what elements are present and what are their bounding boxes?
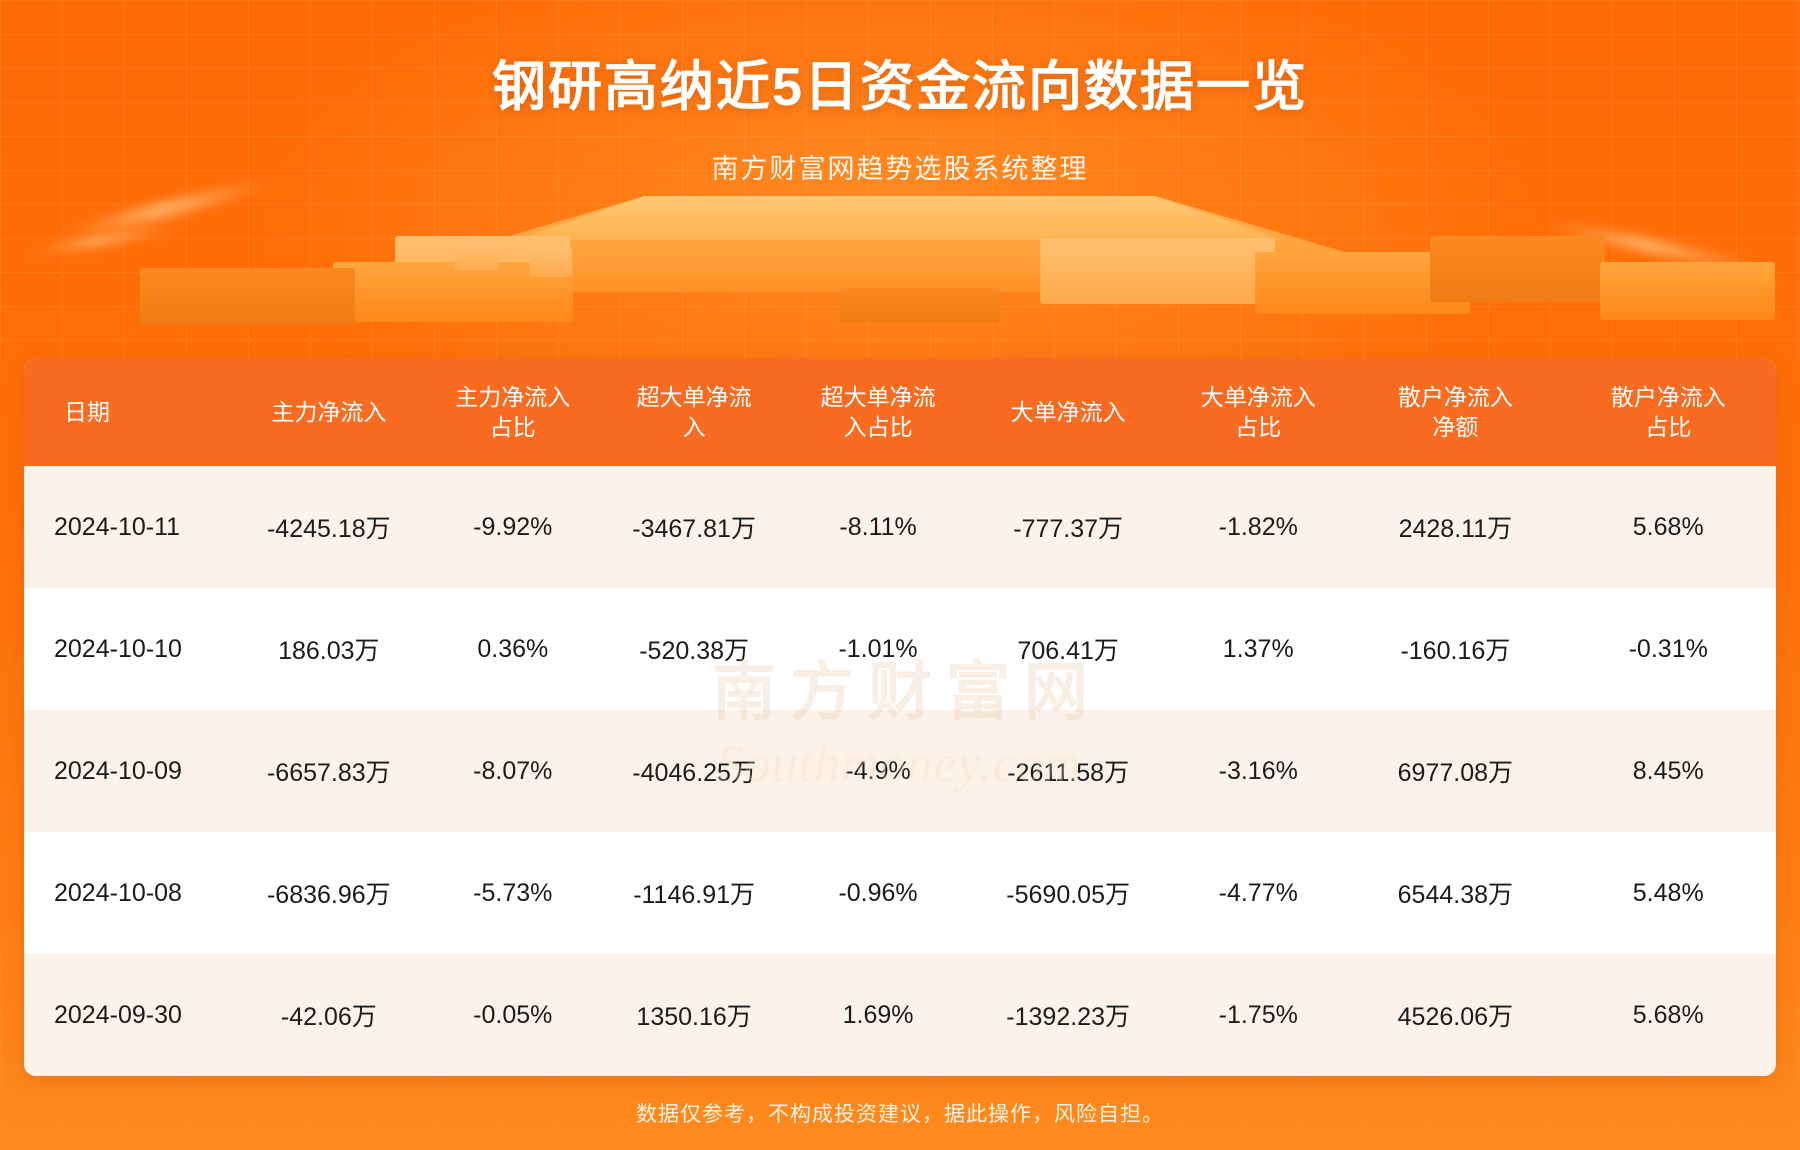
- cell-main-net: 186.03万: [234, 588, 423, 710]
- col-header-retail-net-line2: 净额: [1354, 412, 1556, 442]
- col-header-xl-net[interactable]: 超大单净流 入: [602, 358, 786, 466]
- cell-main-pct: 0.36%: [423, 588, 602, 710]
- cell-xl-net: -3467.81万: [602, 466, 786, 588]
- page-subtitle: 南方财富网趋势选股系统整理: [0, 147, 1800, 186]
- col-header-date-line1: 日期: [64, 397, 230, 427]
- podium-block-j: [840, 288, 1000, 322]
- table-row[interactable]: 2024-10-09-6657.83万-8.07%-4046.25万-4.9%-…: [24, 710, 1776, 832]
- col-header-retail-net-line1: 散户净流入: [1354, 382, 1556, 412]
- podium-block-h: [1430, 236, 1605, 302]
- col-header-retail-pct[interactable]: 散户净流入 占比: [1560, 358, 1776, 466]
- table-header-row: 日期 主力净流入 主力净流入 占比 超大单净流 入 超大单净流 入占比: [24, 358, 1776, 466]
- cell-main-net: -6657.83万: [234, 710, 423, 832]
- col-header-main-net-line1: 主力净流入: [238, 397, 419, 427]
- cell-retail-net: -160.16万: [1350, 588, 1560, 710]
- cell-main-net: -4245.18万: [234, 466, 423, 588]
- table-row[interactable]: 2024-10-11-4245.18万-9.92%-3467.81万-8.11%…: [24, 466, 1776, 588]
- col-header-xl-net-line1: 超大单净流: [606, 382, 782, 412]
- cell-retail-net: 4526.06万: [1350, 954, 1560, 1076]
- cell-main-pct: -0.05%: [423, 954, 602, 1076]
- cell-retail-pct: 5.48%: [1560, 832, 1776, 954]
- cell-xl-pct: 1.69%: [786, 954, 970, 1076]
- col-header-retail-net[interactable]: 散户净流入 净额: [1350, 358, 1560, 466]
- cell-retail-pct: 8.45%: [1560, 710, 1776, 832]
- cell-xl-net: -1146.91万: [602, 832, 786, 954]
- cell-lg-net: -777.37万: [970, 466, 1166, 588]
- podium-block-f: [1040, 238, 1275, 304]
- cell-retail-net: 6977.08万: [1350, 710, 1560, 832]
- col-header-xl-pct[interactable]: 超大单净流 入占比: [786, 358, 970, 466]
- table-row[interactable]: 2024-09-30-42.06万-0.05%1350.16万1.69%-139…: [24, 954, 1776, 1076]
- cell-date: 2024-10-11: [24, 466, 234, 588]
- data-table-card: 南方财富网 Southmoney.com 日期 主力净流入 主力净流入 占比: [24, 358, 1776, 1076]
- cell-date: 2024-10-08: [24, 832, 234, 954]
- cell-lg-pct: -1.75%: [1166, 954, 1350, 1076]
- cell-lg-net: -1392.23万: [970, 954, 1166, 1076]
- table-body: 2024-10-11-4245.18万-9.92%-3467.81万-8.11%…: [24, 466, 1776, 1076]
- page-header: 钢研高纳近5日资金流向数据一览 南方财富网趋势选股系统整理: [0, 0, 1800, 186]
- cell-xl-pct: -4.9%: [786, 710, 970, 832]
- cell-retail-pct: -0.31%: [1560, 588, 1776, 710]
- col-header-date[interactable]: 日期: [24, 358, 234, 466]
- cell-xl-net: -4046.25万: [602, 710, 786, 832]
- col-header-lg-net-line1: 大单净流入: [974, 397, 1162, 427]
- cell-xl-pct: -0.96%: [786, 832, 970, 954]
- cell-retail-pct: 5.68%: [1560, 466, 1776, 588]
- cell-main-net: -6836.96万: [234, 832, 423, 954]
- cell-retail-net: 2428.11万: [1350, 466, 1560, 588]
- cell-main-pct: -5.73%: [423, 832, 602, 954]
- cell-main-pct: -8.07%: [423, 710, 602, 832]
- cell-date: 2024-09-30: [24, 954, 234, 1076]
- cell-xl-pct: -8.11%: [786, 466, 970, 588]
- cell-lg-pct: -4.77%: [1166, 832, 1350, 954]
- table-row[interactable]: 2024-10-10186.03万0.36%-520.38万-1.01%706.…: [24, 588, 1776, 710]
- cell-date: 2024-10-10: [24, 588, 234, 710]
- podium-block-e: [455, 245, 499, 271]
- cell-lg-net: -5690.05万: [970, 832, 1166, 954]
- cell-lg-pct: -1.82%: [1166, 466, 1350, 588]
- cell-lg-net: -2611.58万: [970, 710, 1166, 832]
- col-header-main-pct-line2: 占比: [427, 412, 598, 442]
- col-header-lg-pct-line2: 占比: [1170, 412, 1346, 442]
- col-header-main-pct[interactable]: 主力净流入 占比: [423, 358, 602, 466]
- podium-block-c: [140, 268, 355, 324]
- cell-main-pct: -9.92%: [423, 466, 602, 588]
- col-header-lg-net[interactable]: 大单净流入: [970, 358, 1166, 466]
- table-head: 日期 主力净流入 主力净流入 占比 超大单净流 入 超大单净流 入占比: [24, 358, 1776, 466]
- cell-xl-net: 1350.16万: [602, 954, 786, 1076]
- cell-main-net: -42.06万: [234, 954, 423, 1076]
- podium-block-d: [530, 247, 572, 277]
- col-header-main-net[interactable]: 主力净流入: [234, 358, 423, 466]
- cell-lg-pct: -3.16%: [1166, 710, 1350, 832]
- col-header-retail-pct-line2: 占比: [1564, 412, 1772, 442]
- podium-block-i: [1600, 262, 1775, 320]
- footer-disclaimer-text: 数据仅参考，不构成投资建议，据此操作，风险自担。: [636, 1098, 1164, 1128]
- cell-xl-pct: -1.01%: [786, 588, 970, 710]
- cell-date: 2024-10-09: [24, 710, 234, 832]
- page-title: 钢研高纳近5日资金流向数据一览: [0, 42, 1800, 121]
- cell-retail-net: 6544.38万: [1350, 832, 1560, 954]
- col-header-lg-pct[interactable]: 大单净流入 占比: [1166, 358, 1350, 466]
- col-header-xl-net-line2: 入: [606, 412, 782, 442]
- col-header-main-pct-line1: 主力净流入: [427, 382, 598, 412]
- cell-lg-pct: 1.37%: [1166, 588, 1350, 710]
- cell-retail-pct: 5.68%: [1560, 954, 1776, 1076]
- col-header-retail-pct-line1: 散户净流入: [1564, 382, 1772, 412]
- table-row[interactable]: 2024-10-08-6836.96万-5.73%-1146.91万-0.96%…: [24, 832, 1776, 954]
- col-header-xl-pct-line1: 超大单净流: [790, 382, 966, 412]
- footer-disclaimer-bar: 数据仅参考，不构成投资建议，据此操作，风险自担。: [0, 1076, 1800, 1150]
- fund-flow-table: 日期 主力净流入 主力净流入 占比 超大单净流 入 超大单净流 入占比: [24, 358, 1776, 1076]
- cell-lg-net: 706.41万: [970, 588, 1166, 710]
- col-header-lg-pct-line1: 大单净流入: [1170, 382, 1346, 412]
- col-header-xl-pct-line2: 入占比: [790, 412, 966, 442]
- cell-xl-net: -520.38万: [602, 588, 786, 710]
